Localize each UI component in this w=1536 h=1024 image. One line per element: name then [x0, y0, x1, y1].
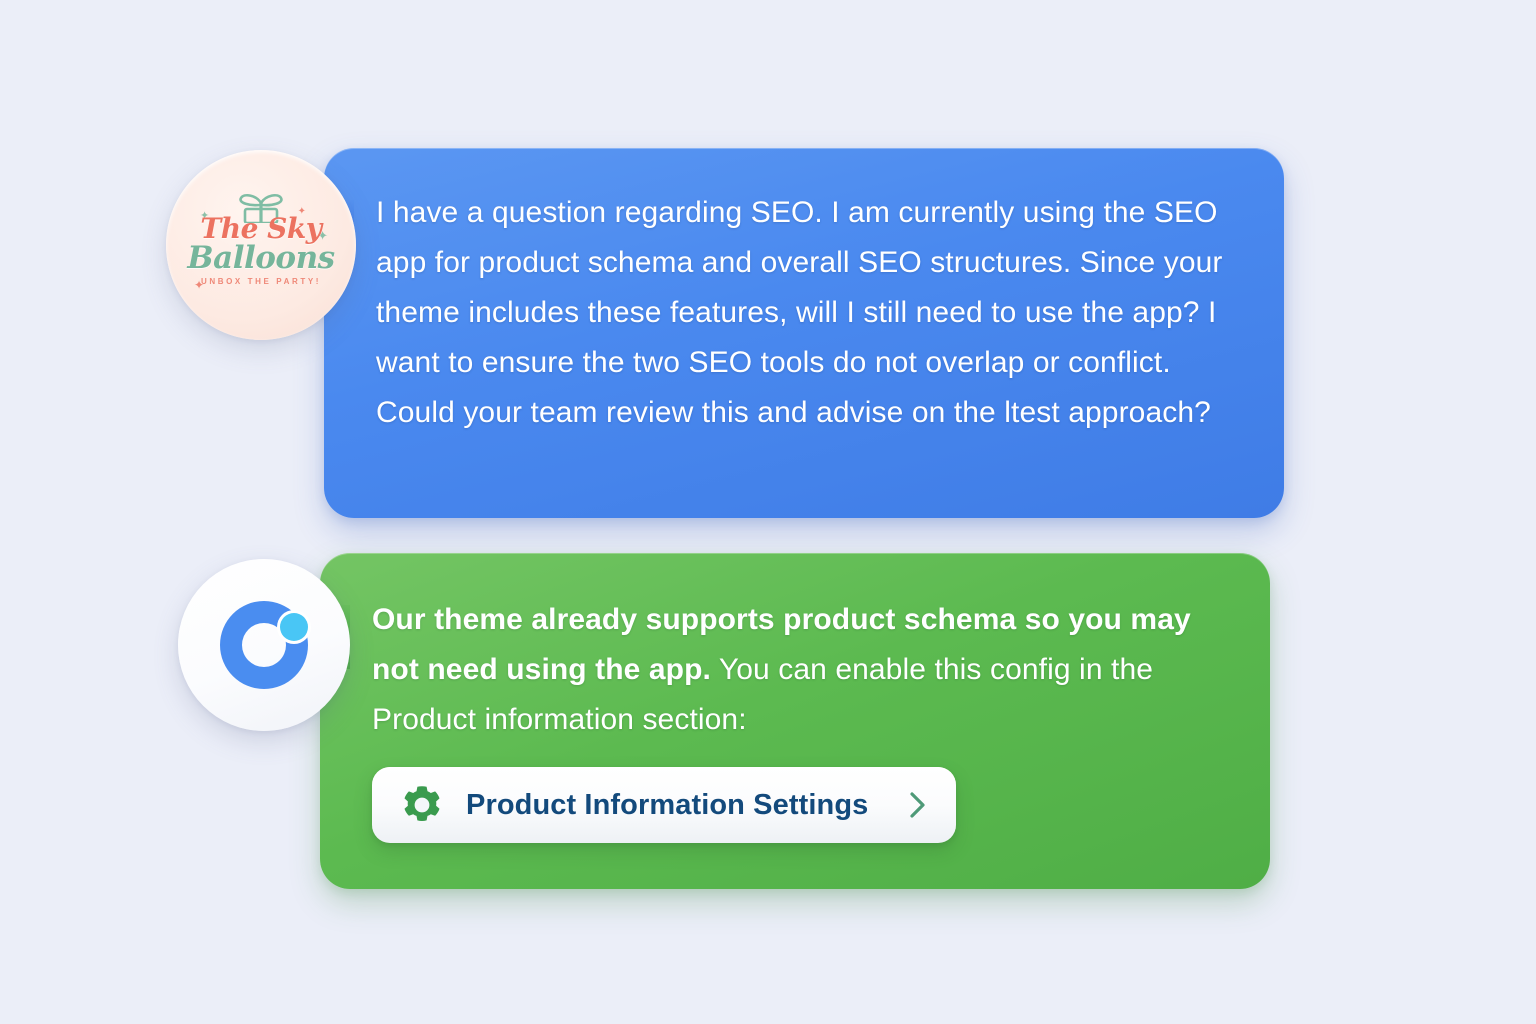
avatar-agent	[178, 559, 350, 731]
logo-brand-line-2: Balloons	[186, 243, 336, 274]
logo-tagline: UNBOX THE PARTY!	[186, 277, 336, 286]
chat-bubble-customer: I have a question regarding SEO. I am cu…	[324, 148, 1284, 518]
gear-icon	[400, 783, 444, 827]
product-information-settings-button[interactable]: Product Information Settings	[372, 767, 956, 843]
customer-message-text: I have a question regarding SEO. I am cu…	[376, 188, 1236, 438]
settings-button-label: Product Information Settings	[466, 789, 868, 822]
avatar-the-sky-balloons: ✦ ✦ ✦ ✦ The Sky Balloons UNBOX THE PARTY…	[166, 150, 356, 340]
agent-message-text: Our theme already supports product schem…	[372, 595, 1222, 745]
the-sky-balloons-logo: ✦ ✦ ✦ ✦ The Sky Balloons UNBOX THE PARTY…	[186, 193, 336, 305]
chat-bubble-agent: Our theme already supports product schem…	[320, 553, 1270, 889]
message-row-agent: Our theme already supports product schem…	[178, 553, 1270, 889]
logo-brand-line-1: The Sky	[186, 215, 336, 243]
conversation-canvas: ✦ ✦ ✦ ✦ The Sky Balloons UNBOX THE PARTY…	[0, 0, 1536, 1024]
c-ring-icon	[212, 593, 316, 697]
chevron-right-icon	[904, 788, 930, 822]
message-row-customer: ✦ ✦ ✦ ✦ The Sky Balloons UNBOX THE PARTY…	[166, 148, 1284, 518]
